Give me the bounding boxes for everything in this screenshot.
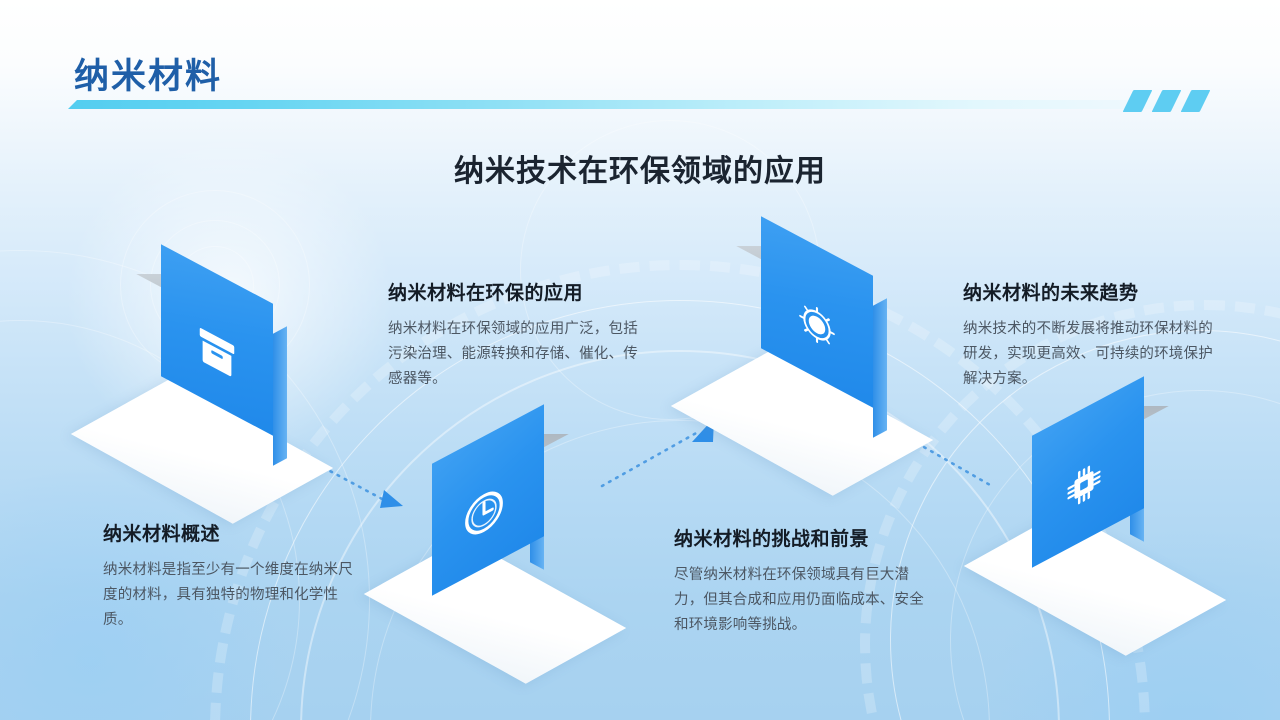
step-text-3: 纳米材料的挑战和前景 尽管纳米材料在环保领域具有巨大潜力，但其合成和应用仍面临成… bbox=[674, 529, 936, 638]
step-text-1: 纳米材料概述 纳米材料是指至少有一个维度在纳米尺度的材料，具有独特的物理和化学性… bbox=[103, 524, 365, 633]
step-body-3: 尽管纳米材料在环保领域具有巨大潜力，但其合成和应用仍面临成本、安全和环境影响等挑… bbox=[674, 563, 936, 638]
step-body-2: 纳米材料在环保领域的应用广泛，包括污染治理、能源转换和存储、催化、传感器等。 bbox=[388, 317, 650, 392]
header-slash-decoration bbox=[1128, 90, 1238, 116]
slide-canvas: 纳米材料 纳米技术在环保领域的应用 bbox=[0, 0, 1280, 720]
step-title-4: 纳米材料的未来趋势 bbox=[963, 283, 1225, 306]
page-title: 纳米材料 bbox=[74, 48, 222, 99]
step-title-1: 纳米材料概述 bbox=[103, 524, 365, 547]
step-text-2: 纳米材料在环保的应用 纳米材料在环保领域的应用广泛，包括污染治理、能源转换和存储… bbox=[388, 283, 650, 392]
slash-icon bbox=[1152, 90, 1182, 112]
panel-side bbox=[873, 298, 887, 437]
step-graphic-4 bbox=[998, 382, 1228, 612]
slash-icon bbox=[1123, 90, 1153, 112]
base-plate bbox=[671, 350, 933, 495]
step-graphic-2 bbox=[398, 410, 628, 640]
header-divider bbox=[68, 100, 1203, 109]
slash-icon bbox=[1181, 90, 1211, 112]
main-heading: 纳米技术在环保领域的应用 bbox=[0, 146, 1280, 190]
step-graphic-1 bbox=[105, 250, 335, 480]
step-text-4: 纳米材料的未来趋势 纳米技术的不断发展将推动环保材料的研发，实现更高效、可持续的… bbox=[963, 283, 1225, 392]
step-graphic-3 bbox=[705, 222, 935, 452]
base-plate bbox=[71, 378, 333, 523]
slide-header: 纳米材料 bbox=[0, 0, 1280, 130]
panel-side bbox=[273, 326, 287, 465]
step-body-4: 纳米技术的不断发展将推动环保材料的研发，实现更高效、可持续的环境保护解决方案。 bbox=[963, 317, 1225, 392]
step-body-1: 纳米材料是指至少有一个维度在纳米尺度的材料，具有独特的物理和化学性质。 bbox=[103, 558, 365, 633]
step-title-2: 纳米材料在环保的应用 bbox=[388, 283, 650, 306]
step-title-3: 纳米材料的挑战和前景 bbox=[674, 529, 936, 552]
